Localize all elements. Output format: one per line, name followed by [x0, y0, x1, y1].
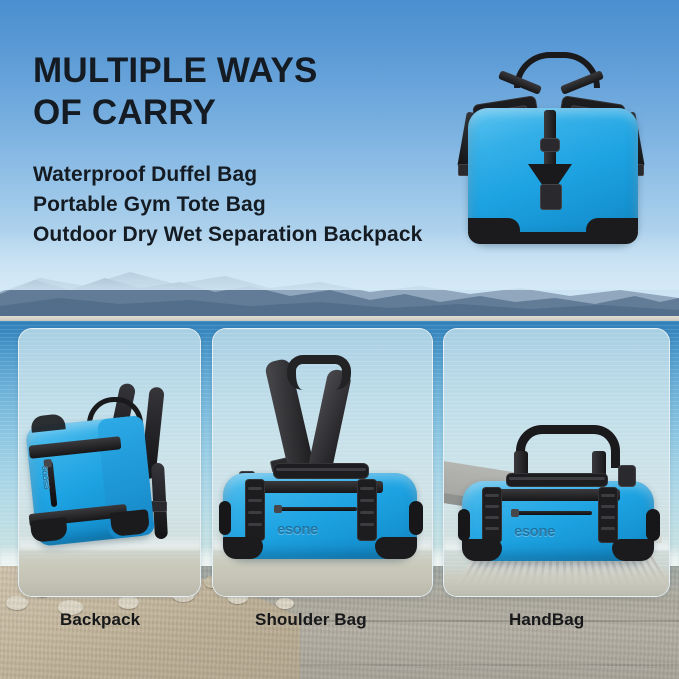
shoulder-strap-apex	[287, 355, 351, 390]
haul-handle	[506, 473, 608, 487]
bag-shoulder-mode: esone	[219, 355, 427, 569]
product-marketing-image: MULTIPLE WAYS OF CARRY Waterproof Duffel…	[0, 0, 679, 679]
zipper	[514, 511, 592, 515]
headline-line-1: MULTIPLE WAYS	[33, 50, 463, 92]
panel-shoulder-bag[interactable]: esone	[212, 328, 433, 597]
caption-handbag: HandBag	[509, 610, 584, 630]
zipper	[277, 507, 357, 511]
page-title: MULTIPLE WAYS OF CARRY	[33, 50, 463, 134]
brand-logo: esone	[277, 521, 318, 538]
subheading-1: Waterproof Duffel Bag	[33, 160, 503, 190]
caption-shoulder-bag: Shoulder Bag	[255, 610, 367, 630]
side-grip-right	[598, 487, 618, 543]
headline-line-2: OF CARRY	[33, 92, 463, 134]
subheading-list: Waterproof Duffel Bag Portable Gym Tote …	[33, 160, 503, 250]
haul-handle	[273, 463, 369, 479]
bag-handbag-mode: esone	[458, 425, 658, 565]
hero-product-image	[452, 52, 662, 252]
brand-logo: esone	[514, 523, 555, 540]
bag-backpack-mode: esone	[27, 381, 193, 561]
side-grip-left	[245, 479, 265, 541]
subheading-3: Outdoor Dry Wet Separation Backpack	[33, 220, 503, 250]
subheading-2: Portable Gym Tote Bag	[33, 190, 503, 220]
caption-backpack: Backpack	[60, 610, 140, 630]
side-grip-left	[482, 487, 502, 543]
panel-handbag[interactable]: esone	[443, 328, 670, 597]
panel-backpack[interactable]: esone	[18, 328, 201, 597]
side-grip-right	[357, 479, 377, 541]
